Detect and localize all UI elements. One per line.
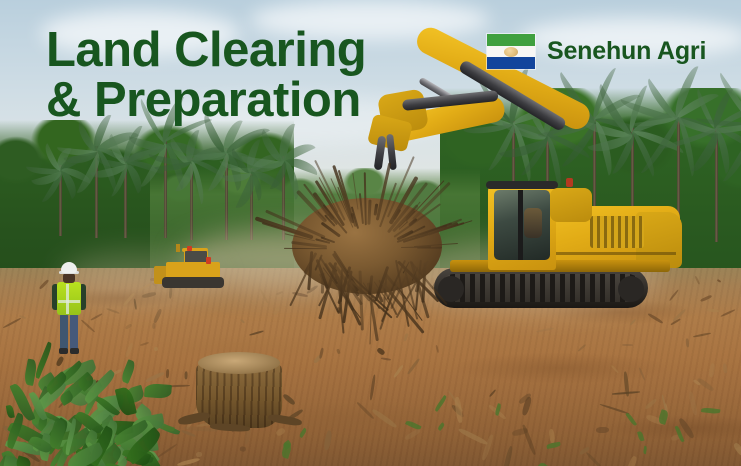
root-strand	[412, 182, 450, 221]
excavator-beacon	[566, 178, 573, 187]
land-clearing-banner: Land Clearing & Preparation Senehun Agri	[0, 0, 741, 466]
flag-band-blue	[487, 57, 535, 69]
worker-boot	[70, 348, 79, 354]
debris-piece	[596, 426, 610, 433]
brand-logo[interactable]: Senehun Agri	[487, 34, 706, 69]
worker-hi-vis-vest	[57, 282, 81, 315]
excavator-engine-vents	[590, 216, 644, 248]
flag-band-green	[487, 34, 535, 46]
palm-tree	[710, 94, 741, 242]
site-worker	[52, 262, 86, 354]
excavator-track-treads	[440, 274, 642, 302]
uprooted-root-ball	[272, 176, 462, 336]
palm-frond	[723, 125, 741, 184]
worker-leg	[60, 314, 68, 350]
flag-emblem	[504, 47, 518, 57]
debris-piece	[239, 446, 245, 452]
stump-cut-face	[198, 352, 280, 374]
worker-vest-stripe	[58, 300, 80, 303]
worker-boot	[59, 348, 68, 354]
bulldozer-marker	[187, 246, 192, 251]
excavator-boom-foot	[550, 188, 592, 222]
sierra-leone-flag-icon	[487, 34, 535, 69]
brand-name: Senehun Agri	[547, 37, 706, 66]
bulldozer-exhaust	[176, 244, 180, 252]
leaf	[144, 383, 172, 399]
excavator-track-sprocket	[618, 276, 644, 302]
worker-vest-stripe	[66, 284, 69, 314]
worker-hard-hat	[61, 262, 77, 273]
excavator-base-frame	[450, 260, 670, 272]
page-title: Land Clearing & Preparation	[46, 26, 366, 126]
excavator-operator	[524, 208, 542, 238]
debris-piece	[251, 301, 257, 304]
excavator-cab-roof	[486, 181, 558, 189]
bulldozer	[154, 248, 232, 292]
bulldozer-track	[162, 277, 224, 288]
tree-stump	[188, 352, 292, 434]
bulldozer-body	[166, 262, 220, 278]
root-strand	[284, 247, 327, 249]
excavator-cab-pillar	[518, 190, 523, 260]
worker-leg	[70, 314, 78, 350]
worker-head	[63, 273, 75, 283]
bulldozer-marker	[206, 257, 211, 264]
